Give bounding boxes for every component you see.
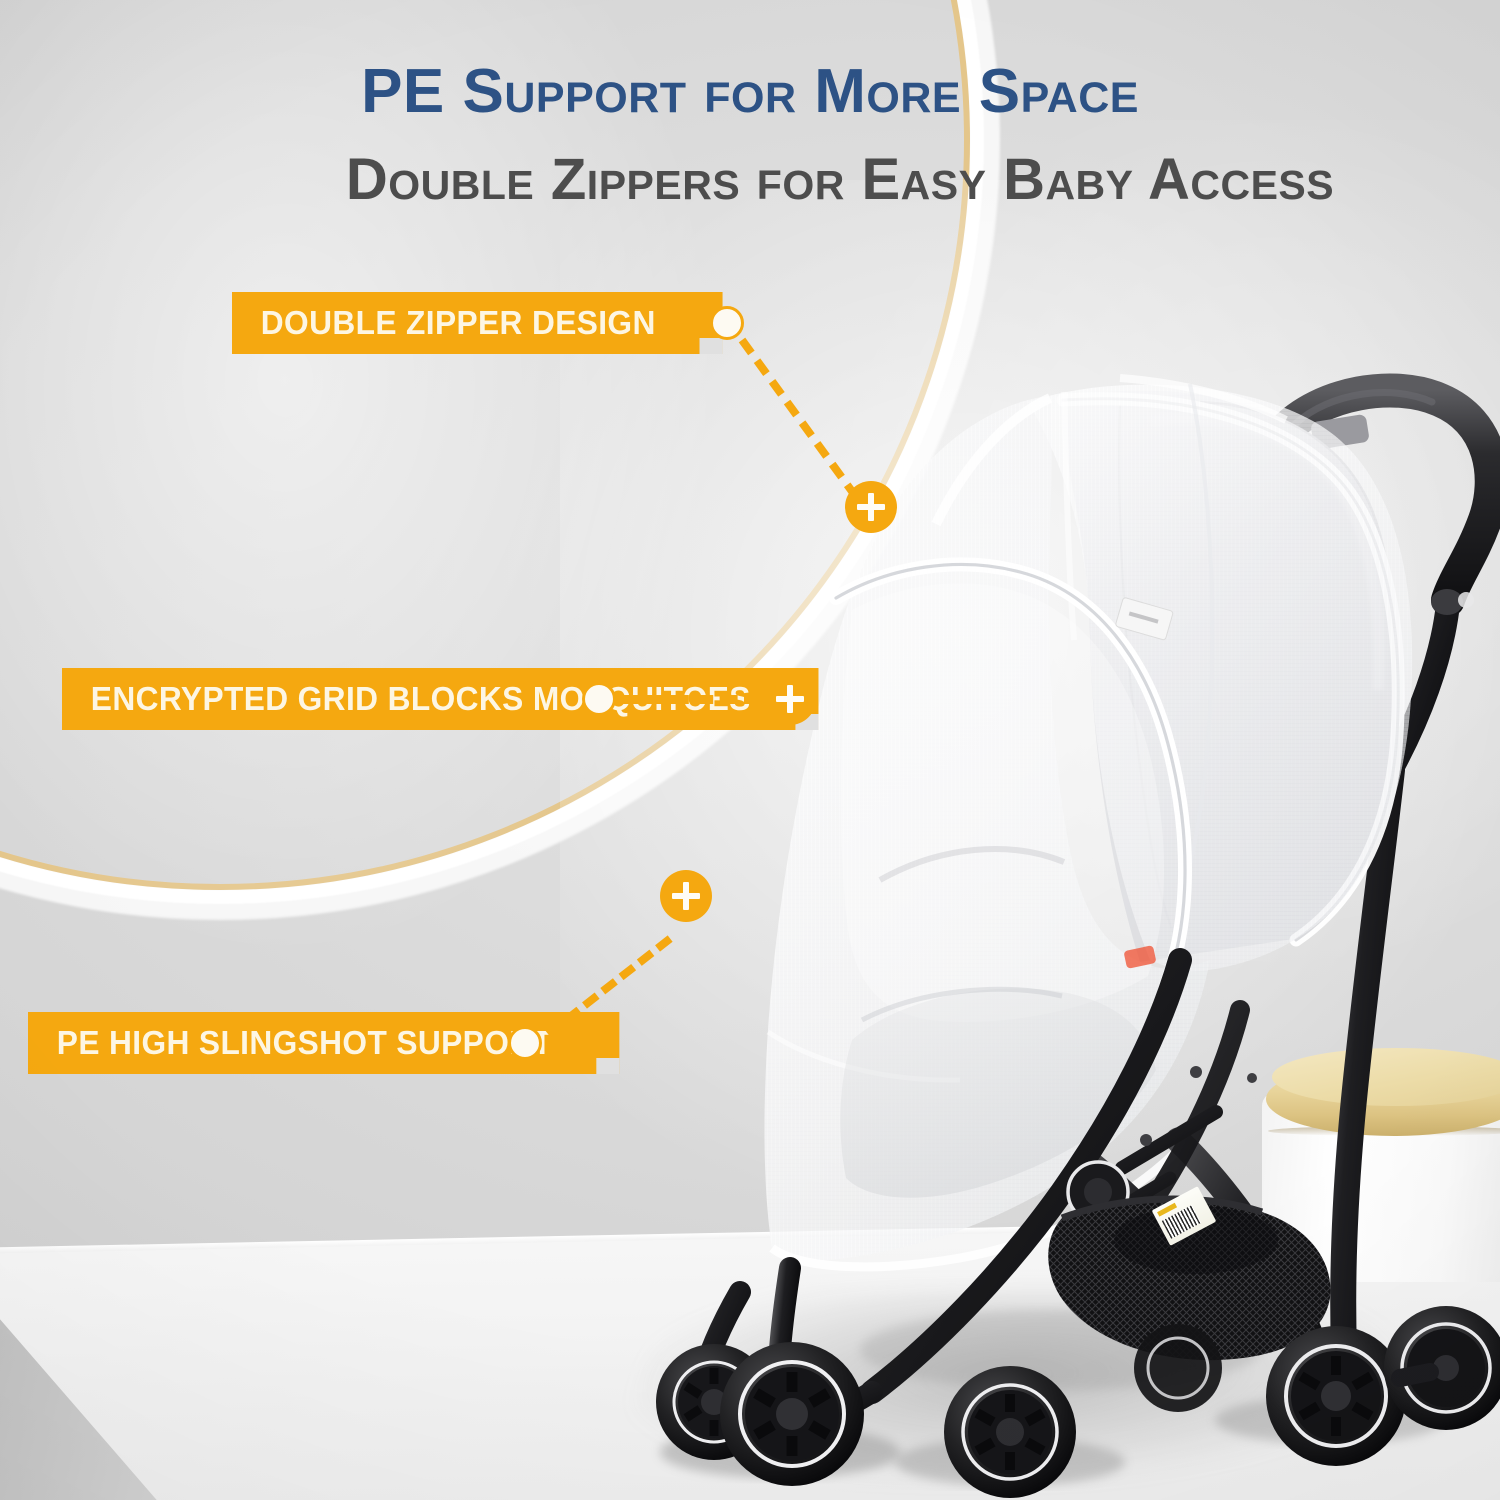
infographic-canvas: PE Support for More Space Double Zippers… (0, 0, 1500, 1500)
vignette-overlay (0, 0, 1500, 1500)
